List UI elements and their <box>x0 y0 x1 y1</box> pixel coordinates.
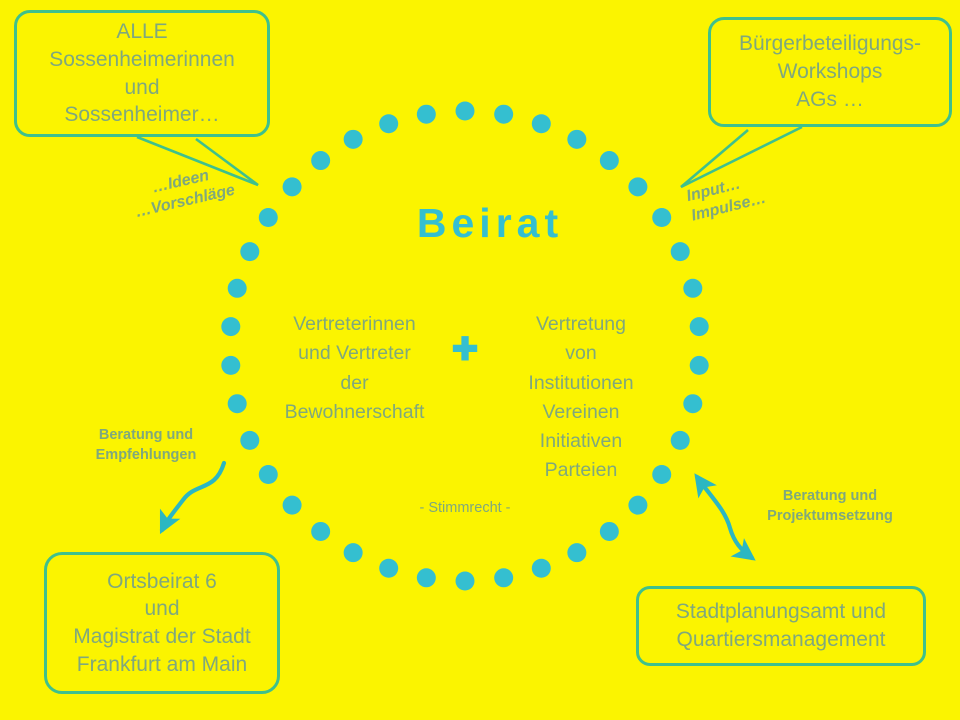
annotation-ideen-vorschlaege: …Ideen …Vorschläge <box>120 159 246 225</box>
annotation-beratung-projektumsetzung: Beratung und Projektumsetzung <box>742 487 918 526</box>
center-column-right: Vertretung von Institutionen Vereinen In… <box>497 310 665 486</box>
speech-bubble-workshops-text: Bürgerbeteiligungs- Workshops AGs … <box>711 30 949 113</box>
plus-icon: ✚ <box>447 330 483 368</box>
speech-bubble-workshops: Bürgerbeteiligungs- Workshops AGs … <box>708 17 952 127</box>
center-column-left: Vertreterinnen und Vertreter der Bewohne… <box>272 310 437 427</box>
annotation-beratung-empfehlungen: Beratung und Empfehlungen <box>78 426 214 465</box>
box-ortsbeirat: Ortsbeirat 6 und Magistrat der Stadt Fra… <box>44 552 280 694</box>
diagram-text-layer: ALLE Sossenheimerinnen und Sossenheimer…… <box>0 0 960 720</box>
diagram-canvas: ALLE Sossenheimerinnen und Sossenheimer…… <box>0 0 960 720</box>
speech-bubble-citizens-text: ALLE Sossenheimerinnen und Sossenheimer… <box>17 18 267 129</box>
box-stadtplanung-text: Stadtplanungsamt und Quartiersmanagement <box>639 598 923 653</box>
center-footnote: - Stimmrecht - <box>355 500 575 516</box>
speech-bubble-citizens: ALLE Sossenheimerinnen und Sossenheimer… <box>14 10 270 137</box>
box-ortsbeirat-text: Ortsbeirat 6 und Magistrat der Stadt Fra… <box>47 568 277 679</box>
annotation-input-impulse: Input… Impulse… <box>685 165 784 226</box>
center-title: Beirat <box>330 200 650 247</box>
box-stadtplanung: Stadtplanungsamt und Quartiersmanagement <box>636 586 926 666</box>
